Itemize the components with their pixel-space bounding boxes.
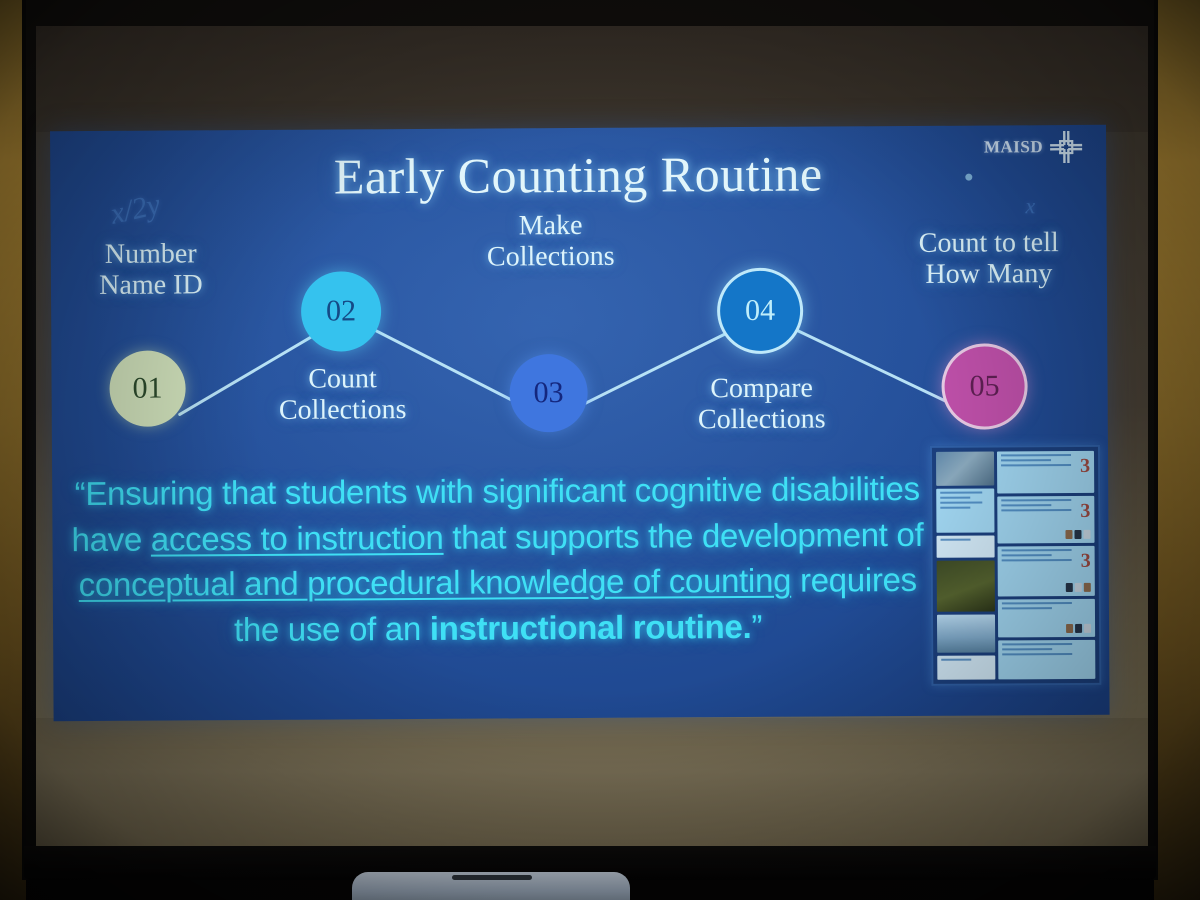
foreground-object-slot <box>452 875 532 880</box>
screen-lower-band <box>36 718 1148 852</box>
node-03-number: 03 <box>534 376 564 410</box>
node-03[interactable]: 03 <box>509 354 587 432</box>
title-accent-dot <box>965 174 972 181</box>
poster-card-3 <box>937 656 995 680</box>
poster-thumbnail[interactable]: 3 3 3 <box>930 445 1101 686</box>
poster-section-1: 3 <box>997 451 1094 494</box>
quote-segment-2: that supports the development of <box>443 515 923 555</box>
screen-upper-band <box>36 26 1148 132</box>
poster-numeral-2: 3 <box>1080 500 1090 523</box>
node-05-label-line2: How Many <box>879 258 1099 291</box>
wall-right <box>1154 0 1200 900</box>
node-01-label: Number Name ID <box>61 238 241 302</box>
quote-bold-end: instructional routine. <box>430 608 752 647</box>
node-03-label-line2: Collections <box>451 241 651 274</box>
presentation-slide: MAISD <box>50 125 1110 721</box>
node-04-number: 04 <box>745 294 775 328</box>
poster-photo-2 <box>937 560 995 612</box>
node-04[interactable]: 04 <box>717 268 804 355</box>
node-03-label: Make Collections <box>451 210 651 274</box>
quote-block: “Ensuring that students with significant… <box>70 466 925 653</box>
quote-close: ” <box>751 607 762 644</box>
node-01-label-line1: Number <box>61 238 241 270</box>
poster-card-2 <box>936 535 994 557</box>
poster-right-column: 3 3 3 <box>997 451 1095 680</box>
early-counting-routine-diagram: 01 02 03 04 05 Number Name ID Count Coll… <box>51 211 1109 477</box>
poster-numeral-3: 3 <box>1081 550 1091 573</box>
node-02[interactable]: 02 <box>301 271 381 351</box>
node-05-label: Count to tell How Many <box>879 227 1099 291</box>
quote-emphasis-2: conceptual and procedural knowledge of c… <box>79 562 792 603</box>
poster-numeral-1: 3 <box>1080 455 1090 478</box>
poster-card-1 <box>936 488 994 532</box>
node-02-label-line2: Collections <box>248 394 438 427</box>
poster-photo-1 <box>936 451 994 485</box>
poster-section-5 <box>998 640 1095 679</box>
node-05-number: 05 <box>969 369 999 403</box>
node-05[interactable]: 05 <box>941 343 1028 430</box>
projected-slide-photo: MAISD <box>0 0 1200 900</box>
node-01-number: 01 <box>132 372 162 406</box>
quote-open: “ <box>75 475 86 512</box>
poster-section-4 <box>998 599 1095 638</box>
page-title: Early Counting Routine <box>50 143 1106 207</box>
node-03-label-line1: Make <box>451 210 651 243</box>
poster-section-3: 3 <box>998 546 1095 597</box>
node-01[interactable]: 01 <box>109 350 185 426</box>
poster-photo-3 <box>937 615 995 653</box>
node-04-label-line2: Collections <box>652 404 872 437</box>
poster-section-2: 3 <box>997 496 1094 543</box>
node-04-label: Compare Collections <box>652 372 872 436</box>
node-02-number: 02 <box>326 294 356 328</box>
poster-left-column <box>936 451 995 679</box>
node-02-label-line1: Count <box>247 363 437 396</box>
node-04-label-line1: Compare <box>652 372 872 405</box>
node-05-label-line1: Count to tell <box>879 227 1099 260</box>
node-01-label-line2: Name ID <box>61 269 241 301</box>
node-02-label: Count Collections <box>247 363 437 427</box>
quote-emphasis-1: access to instruction <box>151 518 444 557</box>
